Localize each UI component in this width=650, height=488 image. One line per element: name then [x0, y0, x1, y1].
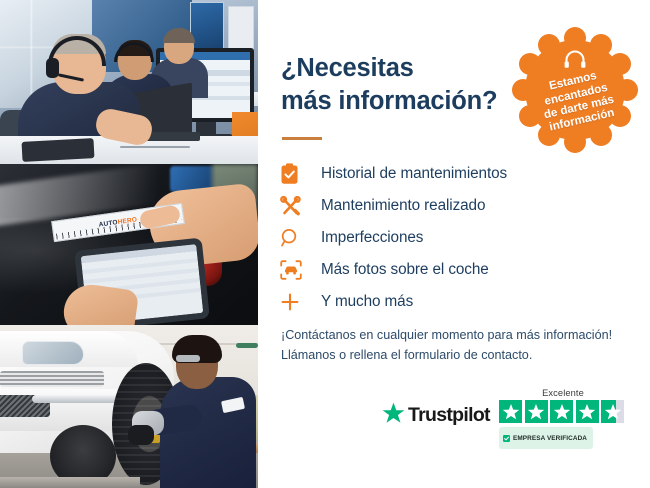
verified-company-badge: EMPRESA VERIFICADA: [499, 427, 593, 449]
car-headlight-shape: [22, 341, 84, 365]
trustpilot-wordmark: Trustpilot: [408, 404, 490, 427]
star-box-filled: [550, 400, 573, 423]
list-item-label: Mantenimiento realizado: [310, 197, 485, 215]
page-title-line-2: más información?: [281, 85, 497, 118]
wall-poster-shape: [190, 2, 224, 54]
page-title-line-1: ¿Necesitas: [281, 52, 497, 85]
tools-cross-icon: [280, 193, 310, 219]
page-title: ¿Necesitas más información?: [281, 52, 497, 117]
list-item-label: Historial de mantenimientos: [310, 165, 507, 183]
content-panel: ¿Necesitas más información?: [258, 0, 650, 488]
verified-company-label: EMPRESA VERIFICADA: [513, 435, 587, 442]
mechanic-wheel-inspection-photo: [0, 325, 258, 488]
list-item: Historial de mantenimientos: [280, 158, 630, 190]
info-promo-card: AUTOHERO: [0, 0, 650, 488]
trustpilot-logo[interactable]: Trustpilot: [382, 402, 490, 429]
trustpilot-rating-label: Excelente: [499, 388, 627, 398]
trustpilot-rating[interactable]: Trustpilot Excelente: [382, 388, 628, 446]
plus-icon: [280, 289, 310, 315]
star-box-filled: [576, 400, 599, 423]
trustpilot-star-icon: [382, 402, 405, 429]
desk-cable-shape: [120, 146, 190, 148]
feature-list: Historial de mantenimientos Mantenimient…: [280, 158, 630, 318]
desk-tablet-shape: [22, 138, 95, 162]
trustpilot-score-block: Excelente: [499, 388, 627, 449]
trustpilot-stars: [499, 400, 627, 423]
title-divider: [282, 137, 322, 140]
list-item-label: Imperfecciones: [310, 229, 423, 247]
list-item: Más fotos sobre el coche: [280, 254, 630, 286]
star-box-partial: [601, 400, 624, 423]
vehicle-inspection-ruler-photo: AUTOHERO: [0, 164, 258, 325]
star-box-filled: [499, 400, 522, 423]
contact-copy-line-1: ¡Contáctanos en cualquier momento para m…: [281, 325, 636, 345]
car-grille-shape: [0, 371, 104, 387]
car-lift-ramp-shape: [0, 477, 140, 488]
green-hose-shape: [236, 343, 258, 348]
verified-check-icon: [503, 429, 510, 447]
mechanic-safety-glasses-shape: [176, 355, 200, 362]
car-focus-frame-icon: [280, 257, 310, 283]
support-badge: Estamos encantados de darte más informac…: [510, 25, 640, 155]
clipboard-check-icon: [280, 161, 310, 187]
list-item: Imperfecciones: [280, 222, 630, 254]
list-item-label: Más fotos sobre el coche: [310, 261, 489, 279]
list-item-label: Y mucho más: [310, 293, 413, 311]
support-badge-text: Estamos encantados de darte más informac…: [497, 12, 650, 168]
mechanic-second-glove-shape: [128, 425, 154, 445]
call-centre-agents-photo: [0, 0, 258, 164]
list-item: Y mucho más: [280, 286, 630, 318]
contact-copy-line-2: Llámanos o rellena el formulario de cont…: [281, 345, 636, 365]
star-box-filled: [525, 400, 548, 423]
list-item: Mantenimiento realizado: [280, 190, 630, 222]
magnifier-icon: [280, 225, 310, 251]
photo-column: AUTOHERO: [0, 0, 258, 488]
contact-copy: ¡Contáctanos en cualquier momento para m…: [281, 325, 636, 366]
